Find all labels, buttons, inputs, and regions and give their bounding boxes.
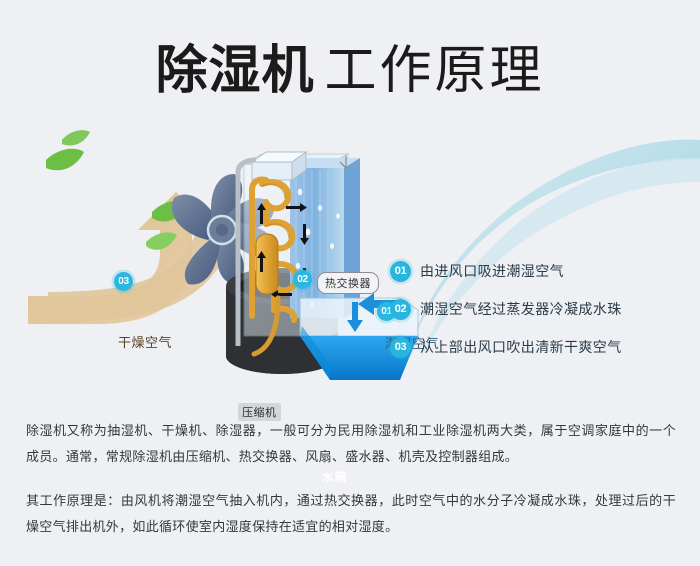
paragraph-1: 除湿机又称为抽湿机、干燥机、除湿器，一般可分为民用除湿机和工业除湿机两大类，属于… (26, 418, 676, 470)
heat-exchanger-callout: 热交换器 (317, 272, 379, 294)
page-title-bold: 除湿机 (155, 42, 314, 100)
legend-text-03: 从上部出风口吹出清新干爽空气 (420, 337, 622, 357)
legend-item: 03 从上部出风口吹出清新干爽空气 (390, 328, 680, 366)
paragraph-2: 其工作原理是：由风机将潮湿空气抽入机内，通过热交换器，此时空气中的水分子冷凝成水… (26, 488, 676, 540)
description-text: 除湿机又称为抽湿机、干燥机、除湿器，一般可分为民用除湿机和工业除湿机两大类，属于… (26, 418, 676, 540)
dry-air-label: 干燥空气 (118, 332, 172, 351)
legend-item: 02 潮湿空气经过蒸发器冷凝成水珠 (390, 290, 680, 328)
diagram-badge-02: 02 (293, 270, 312, 289)
diagram-badge-03: 03 (114, 272, 133, 291)
legend-badge-01: 01 (390, 261, 411, 282)
legend-text-01: 由进风口吸进潮湿空气 (420, 261, 564, 281)
legend-item: 01 由进风口吸进潮湿空气 (390, 252, 680, 290)
page-title-light: 工作原理 (325, 42, 545, 100)
page-title: 除湿机工作原理 (0, 28, 700, 103)
legend-text-02: 潮湿空气经过蒸发器冷凝成水珠 (420, 299, 622, 319)
legend-badge-02: 02 (390, 299, 411, 320)
process-step-legend: 01 由进风口吸进潮湿空气 02 潮湿空气经过蒸发器冷凝成水珠 03 从上部出风… (390, 252, 680, 366)
legend-badge-03: 03 (390, 337, 411, 358)
